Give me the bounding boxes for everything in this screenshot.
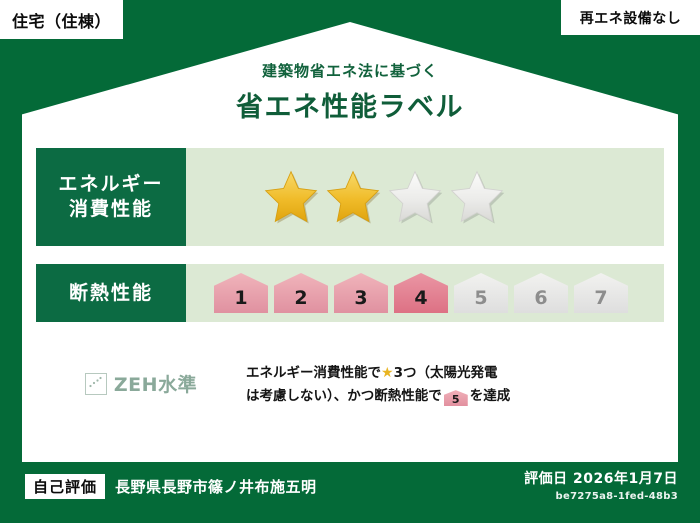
insulation-grade-badge-5: 5 — [454, 273, 508, 313]
insulation-performance-label: 断熱性能 — [36, 264, 186, 322]
evaluation-date: 評価日 2026年1月7日 — [524, 468, 678, 488]
energy-performance-label: エネルギー 消費性能 — [36, 148, 186, 246]
star-rating — [186, 148, 664, 246]
insulation-grade-number: 3 — [354, 287, 367, 309]
insulation-grade-number: 4 — [414, 287, 427, 309]
self-evaluation-badge: 自己評価 — [25, 474, 105, 499]
footer-left: 自己評価 長野県長野市篠ノ井布施五明 — [25, 474, 317, 499]
inline-star-icon: ★ — [381, 365, 394, 381]
zeh-square-icon — [85, 373, 107, 395]
zeh-standard-label: ZEH水準 — [114, 370, 197, 397]
evaluation-date-value: 2026年1月7日 — [573, 471, 678, 487]
star-filled-icon — [262, 169, 320, 225]
insulation-grade-badge-7: 7 — [574, 273, 628, 313]
star-filled-icon — [324, 169, 382, 225]
insulation-grade-number: 5 — [474, 287, 487, 309]
star-empty-icon — [448, 169, 506, 225]
note-area: ZEH水準 エネルギー消費性能で★3つ（太陽光発電 は考慮しない）、かつ断熱性能… — [36, 362, 664, 407]
insulation-grade-badge-2: 2 — [274, 273, 328, 313]
insulation-grade-badge-4: 4 — [394, 273, 448, 313]
property-address: 長野県長野市篠ノ井布施五明 — [115, 476, 317, 497]
desc-text-line2-post: を達成 — [470, 388, 511, 404]
evaluation-date-label: 評価日 — [524, 471, 568, 487]
title-block: 建築物省エネ法に基づく 省エネ性能ラベル — [0, 60, 700, 124]
title-subtitle: 建築物省エネ法に基づく — [0, 60, 700, 81]
energy-label-line2: 消費性能 — [69, 197, 153, 222]
evaluation-id: be7275a8-1fed-48b3 — [524, 491, 678, 502]
insulation-grade-number: 6 — [534, 287, 547, 309]
insulation-grade-badge-3: 3 — [334, 273, 388, 313]
energy-label-line1: エネルギー — [58, 172, 163, 197]
page-title: 省エネ性能ラベル — [0, 85, 700, 124]
desc-text-pre: エネルギー消費性能で — [246, 365, 381, 381]
renewable-energy-tab: 再エネ設備なし — [560, 0, 700, 36]
energy-performance-row: エネルギー 消費性能 — [36, 148, 664, 246]
insulation-grade-number: 1 — [234, 287, 247, 309]
energy-performance-label: 住宅（住棟） 再エネ設備なし 建築物省エネ法に基づく 省エネ性能ラベル エネルギ… — [0, 0, 700, 523]
footer: 自己評価 長野県長野市篠ノ井布施五明 評価日 2026年1月7日 be7275a… — [0, 462, 700, 523]
insulation-grade-badge-1: 1 — [214, 273, 268, 313]
building-type-tab: 住宅（住棟） — [0, 0, 124, 40]
desc-text-line2-pre: は考慮しない）、かつ断熱性能で — [246, 388, 442, 404]
star-empty-icon — [386, 169, 444, 225]
insulation-grade-badge-6: 6 — [514, 273, 568, 313]
insulation-grade-number: 7 — [594, 287, 607, 309]
footer-right: 評価日 2026年1月7日 be7275a8-1fed-48b3 — [524, 468, 678, 502]
insulation-label-line1: 断熱性能 — [69, 281, 153, 306]
achievement-description: エネルギー消費性能で★3つ（太陽光発電 は考慮しない）、かつ断熱性能で5を達成 — [246, 362, 664, 407]
insulation-performance-row: 断熱性能 1234567 — [36, 264, 664, 322]
insulation-grade-scale: 1234567 — [186, 264, 664, 322]
inline-grade-badge: 5 — [444, 390, 468, 406]
insulation-grade-number: 2 — [294, 287, 307, 309]
zeh-standard-block: ZEH水準 — [36, 362, 246, 397]
desc-text-stars: 3つ（太陽光発電 — [394, 365, 498, 381]
